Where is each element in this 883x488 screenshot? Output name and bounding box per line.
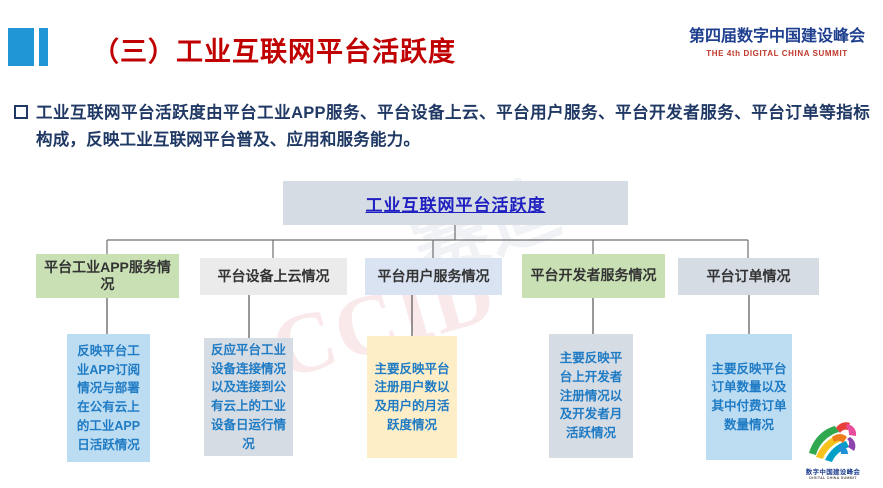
square-bullet-icon	[14, 105, 28, 119]
description-node-5[interactable]: 主要反映平台订单数量以及其中付费订单数量情况	[706, 334, 792, 460]
description-node-3[interactable]: 主要反映平台注册用户数以及用户的月活跃度情况	[367, 336, 457, 458]
digital-china-summit-mark-icon	[803, 419, 863, 465]
description-node-2[interactable]: 反应平台工业设备连接情况以及连接到公有云上的工业设备日运行情况	[204, 338, 293, 456]
summit-logo-en: THE 4th DIGITAL CHINA SUMMIT	[689, 49, 865, 58]
summit-logo-cn: 第四届数字中国建设峰会	[689, 28, 865, 46]
diagram-root-node[interactable]: 工业互联网平台活跃度	[283, 181, 628, 225]
description-node-1[interactable]: 反映平台工业APP订阅情况与部署在公有云上的工业APP日活跃情况	[67, 334, 150, 462]
bottom-logo-en: DIGITAL CHINA SUMMIT	[797, 476, 869, 480]
header-accent-bar-wide	[8, 28, 34, 66]
category-node-5[interactable]: 平台订单情况	[678, 258, 819, 295]
header-accent-bar-thin	[39, 28, 48, 66]
category-node-1[interactable]: 平台工业APP服务情况	[36, 254, 179, 298]
summit-logo: 第四届数字中国建设峰会 THE 4th DIGITAL CHINA SUMMIT	[689, 28, 865, 58]
bullet-text: 工业互联网平台活跃度由平台工业APP服务、平台设备上云、平台用户服务、平台开发者…	[36, 100, 870, 154]
bottom-summit-logo: 数字中国建设峰会 DIGITAL CHINA SUMMIT	[797, 419, 869, 480]
category-node-3[interactable]: 平台用户服务情况	[365, 258, 502, 295]
bullet-paragraph: 工业互联网平台活跃度由平台工业APP服务、平台设备上云、平台用户服务、平台开发者…	[14, 100, 870, 154]
bottom-logo-cn: 数字中国建设峰会	[797, 466, 869, 476]
category-node-4[interactable]: 平台开发者服务情况	[522, 254, 665, 298]
diagram: 工业互联网平台活跃度 平台工业APP服务情况 平台设备上云情况 平台用户服务情况…	[0, 0, 883, 488]
category-node-2[interactable]: 平台设备上云情况	[200, 258, 347, 295]
description-node-4[interactable]: 主要反映平台上开发者注册情况以及开发者月活跃情况	[549, 334, 633, 458]
page-title: （三）工业互联网平台活跃度	[92, 30, 456, 69]
